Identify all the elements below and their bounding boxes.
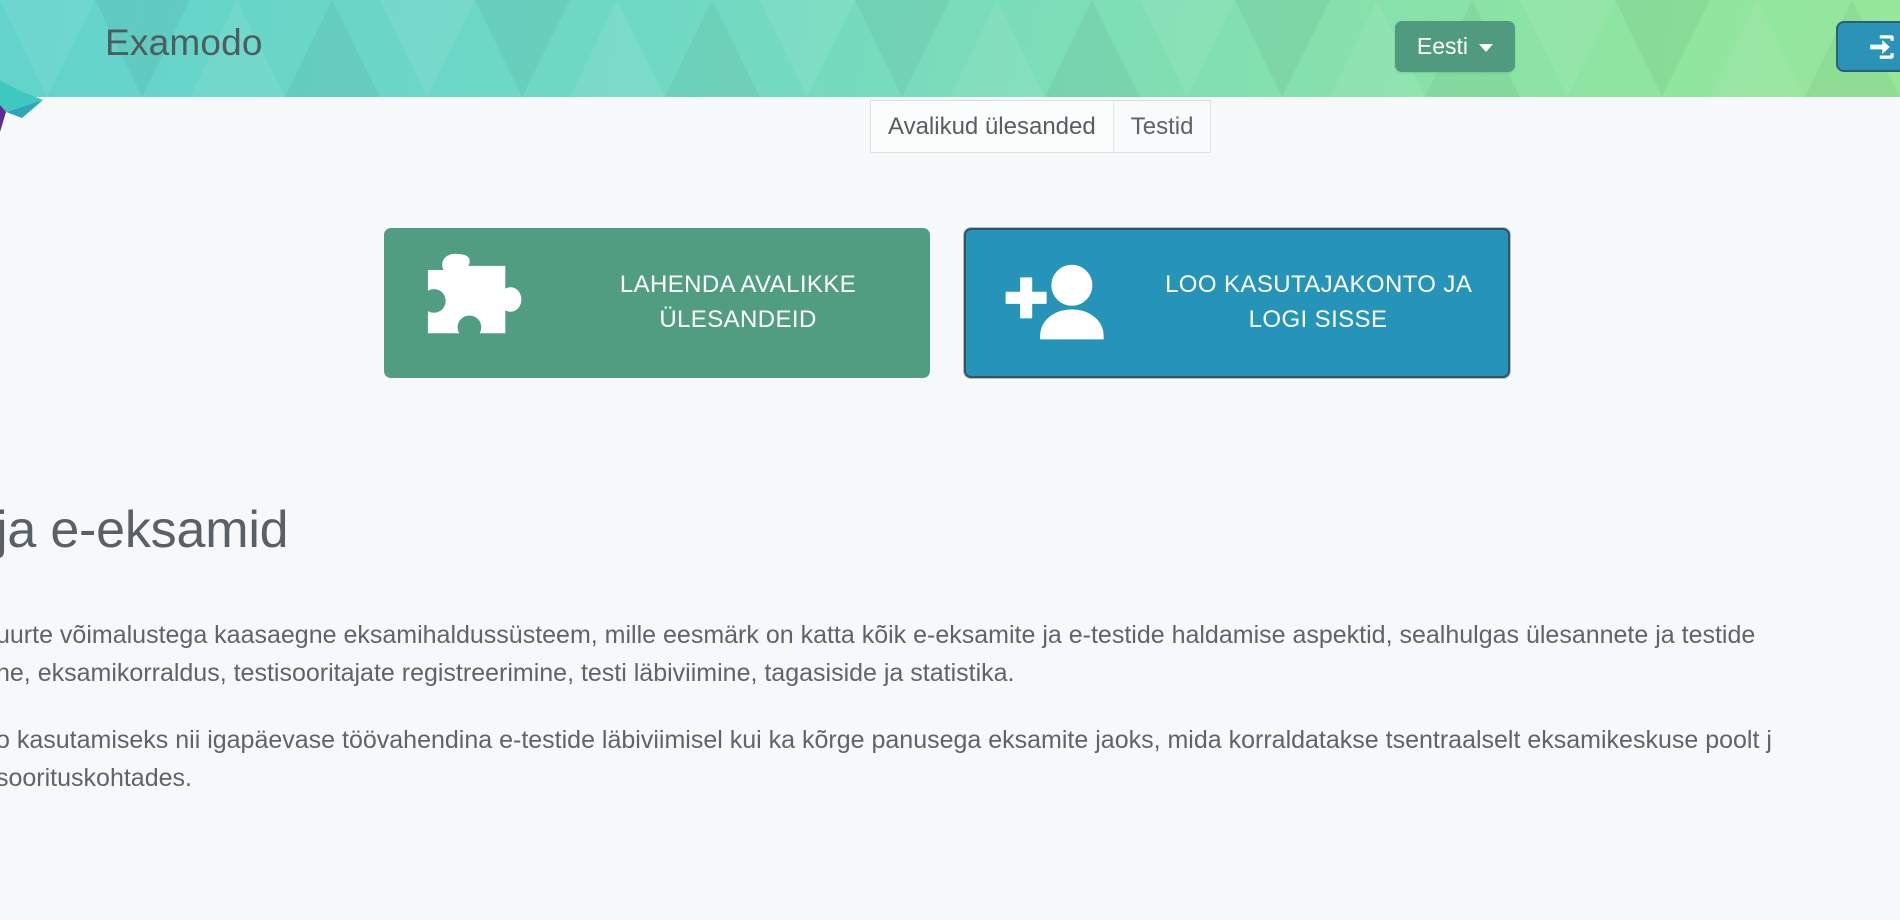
puzzle-piece-icon — [385, 250, 565, 356]
login-button[interactable] — [1836, 21, 1900, 72]
create-account-login-label: LOO KASUTAJAKONTO JA LOGI SISSE — [1146, 268, 1508, 338]
paragraph-line: o kasutamiseks nii igapäevase töövahendi… — [0, 721, 1772, 759]
sign-in-icon — [1862, 29, 1900, 65]
intro-paragraph-2: o kasutamiseks nii igapäevase töövahendi… — [0, 721, 1772, 797]
tab-testid[interactable]: Testid — [1113, 100, 1212, 153]
create-account-login-button[interactable]: LOO KASUTAJAKONTO JA LOGI SISSE — [964, 228, 1510, 378]
tab-bar: Avalikud ülesanded Testid — [871, 100, 1211, 153]
paragraph-line: uurte võimalustega kaasaegne eksamihaldu… — [0, 616, 1755, 654]
tab-label: Avalikud ülesanded — [888, 113, 1096, 141]
header-polygon-pattern — [0, 0, 1900, 97]
paragraph-line: ne, eksamikorraldus, testisooritajate re… — [0, 654, 1755, 692]
intro-paragraph-1: uurte võimalustega kaasaegne eksamihaldu… — [0, 616, 1755, 692]
language-selector-button[interactable]: Eesti — [1395, 21, 1515, 72]
language-label: Eesti — [1417, 33, 1468, 60]
site-header: Examodo Eesti — [0, 0, 1900, 97]
solve-public-tasks-label: LAHENDA AVALIKKE ÜLESANDEID — [565, 268, 929, 338]
brand-title: Examodo — [105, 17, 263, 69]
paragraph-line: soorituskohtades. — [0, 759, 1772, 797]
chevron-down-icon — [1479, 44, 1493, 52]
tab-avalikud-ulesanded[interactable]: Avalikud ülesanded — [870, 100, 1114, 153]
solve-public-tasks-button[interactable]: LAHENDA AVALIKKE ÜLESANDEID — [384, 228, 930, 378]
tab-label: Testid — [1131, 113, 1194, 141]
page-title: ja e-eksamid — [0, 500, 288, 560]
add-user-icon — [966, 254, 1146, 352]
